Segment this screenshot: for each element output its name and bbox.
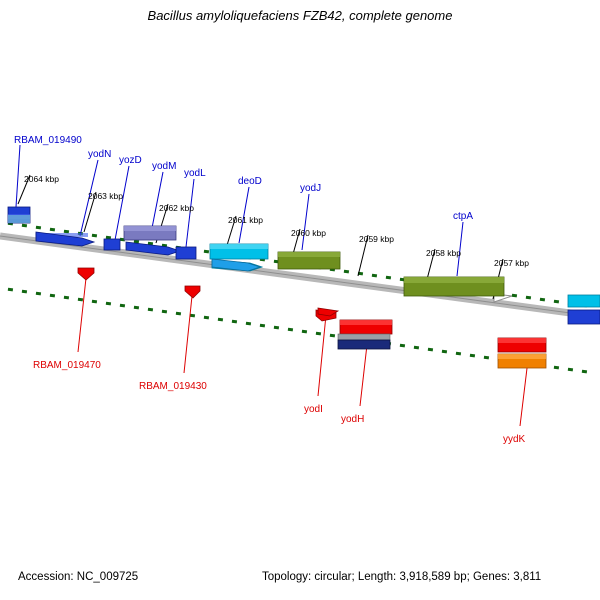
gene-label-yozd[interactable]: yozD	[119, 155, 142, 166]
topology-text: Topology: circular; Length: 3,918,589 bp…	[262, 571, 541, 583]
gene-label-yodl[interactable]: yodL	[184, 168, 206, 179]
scale-tick-label: 2060 kbp	[291, 228, 326, 238]
scale-tick-label: 2058 kbp	[426, 248, 461, 258]
gene-label-rbam019470[interactable]: RBAM_019470	[33, 360, 101, 371]
scale-tick-label: 2064 kbp	[24, 174, 59, 184]
gene-label-rbam019490[interactable]: RBAM_019490	[14, 135, 82, 146]
genome-map-panel: Bacillus amyloliquefaciens FZB42, comple…	[0, 0, 600, 600]
gene-label-rbam019430[interactable]: RBAM_019430	[139, 381, 207, 392]
gene-label-yydk[interactable]: yydK	[503, 434, 525, 445]
gene-label-yodm[interactable]: yodM	[152, 161, 176, 172]
gene-label-yodj[interactable]: yodJ	[300, 183, 321, 194]
accession-text: Accession: NC_009725	[18, 571, 138, 583]
gene-label-ctpa[interactable]: ctpA	[453, 211, 473, 222]
scale-tick-label: 2057 kbp	[494, 258, 529, 268]
scale-tick-label: 2063 kbp	[88, 191, 123, 201]
scale-tick-label: 2061 kbp	[228, 215, 263, 225]
gene-label-yodn[interactable]: yodN	[88, 149, 111, 160]
gene-label-yodh[interactable]: yodH	[341, 414, 364, 425]
scale-tick-label: 2062 kbp	[159, 203, 194, 213]
genome-diagram	[0, 0, 600, 600]
gene-label-deod[interactable]: deoD	[238, 176, 262, 187]
scale-tick-label: 2059 kbp	[359, 234, 394, 244]
gene-label-yodi[interactable]: yodI	[304, 404, 323, 415]
